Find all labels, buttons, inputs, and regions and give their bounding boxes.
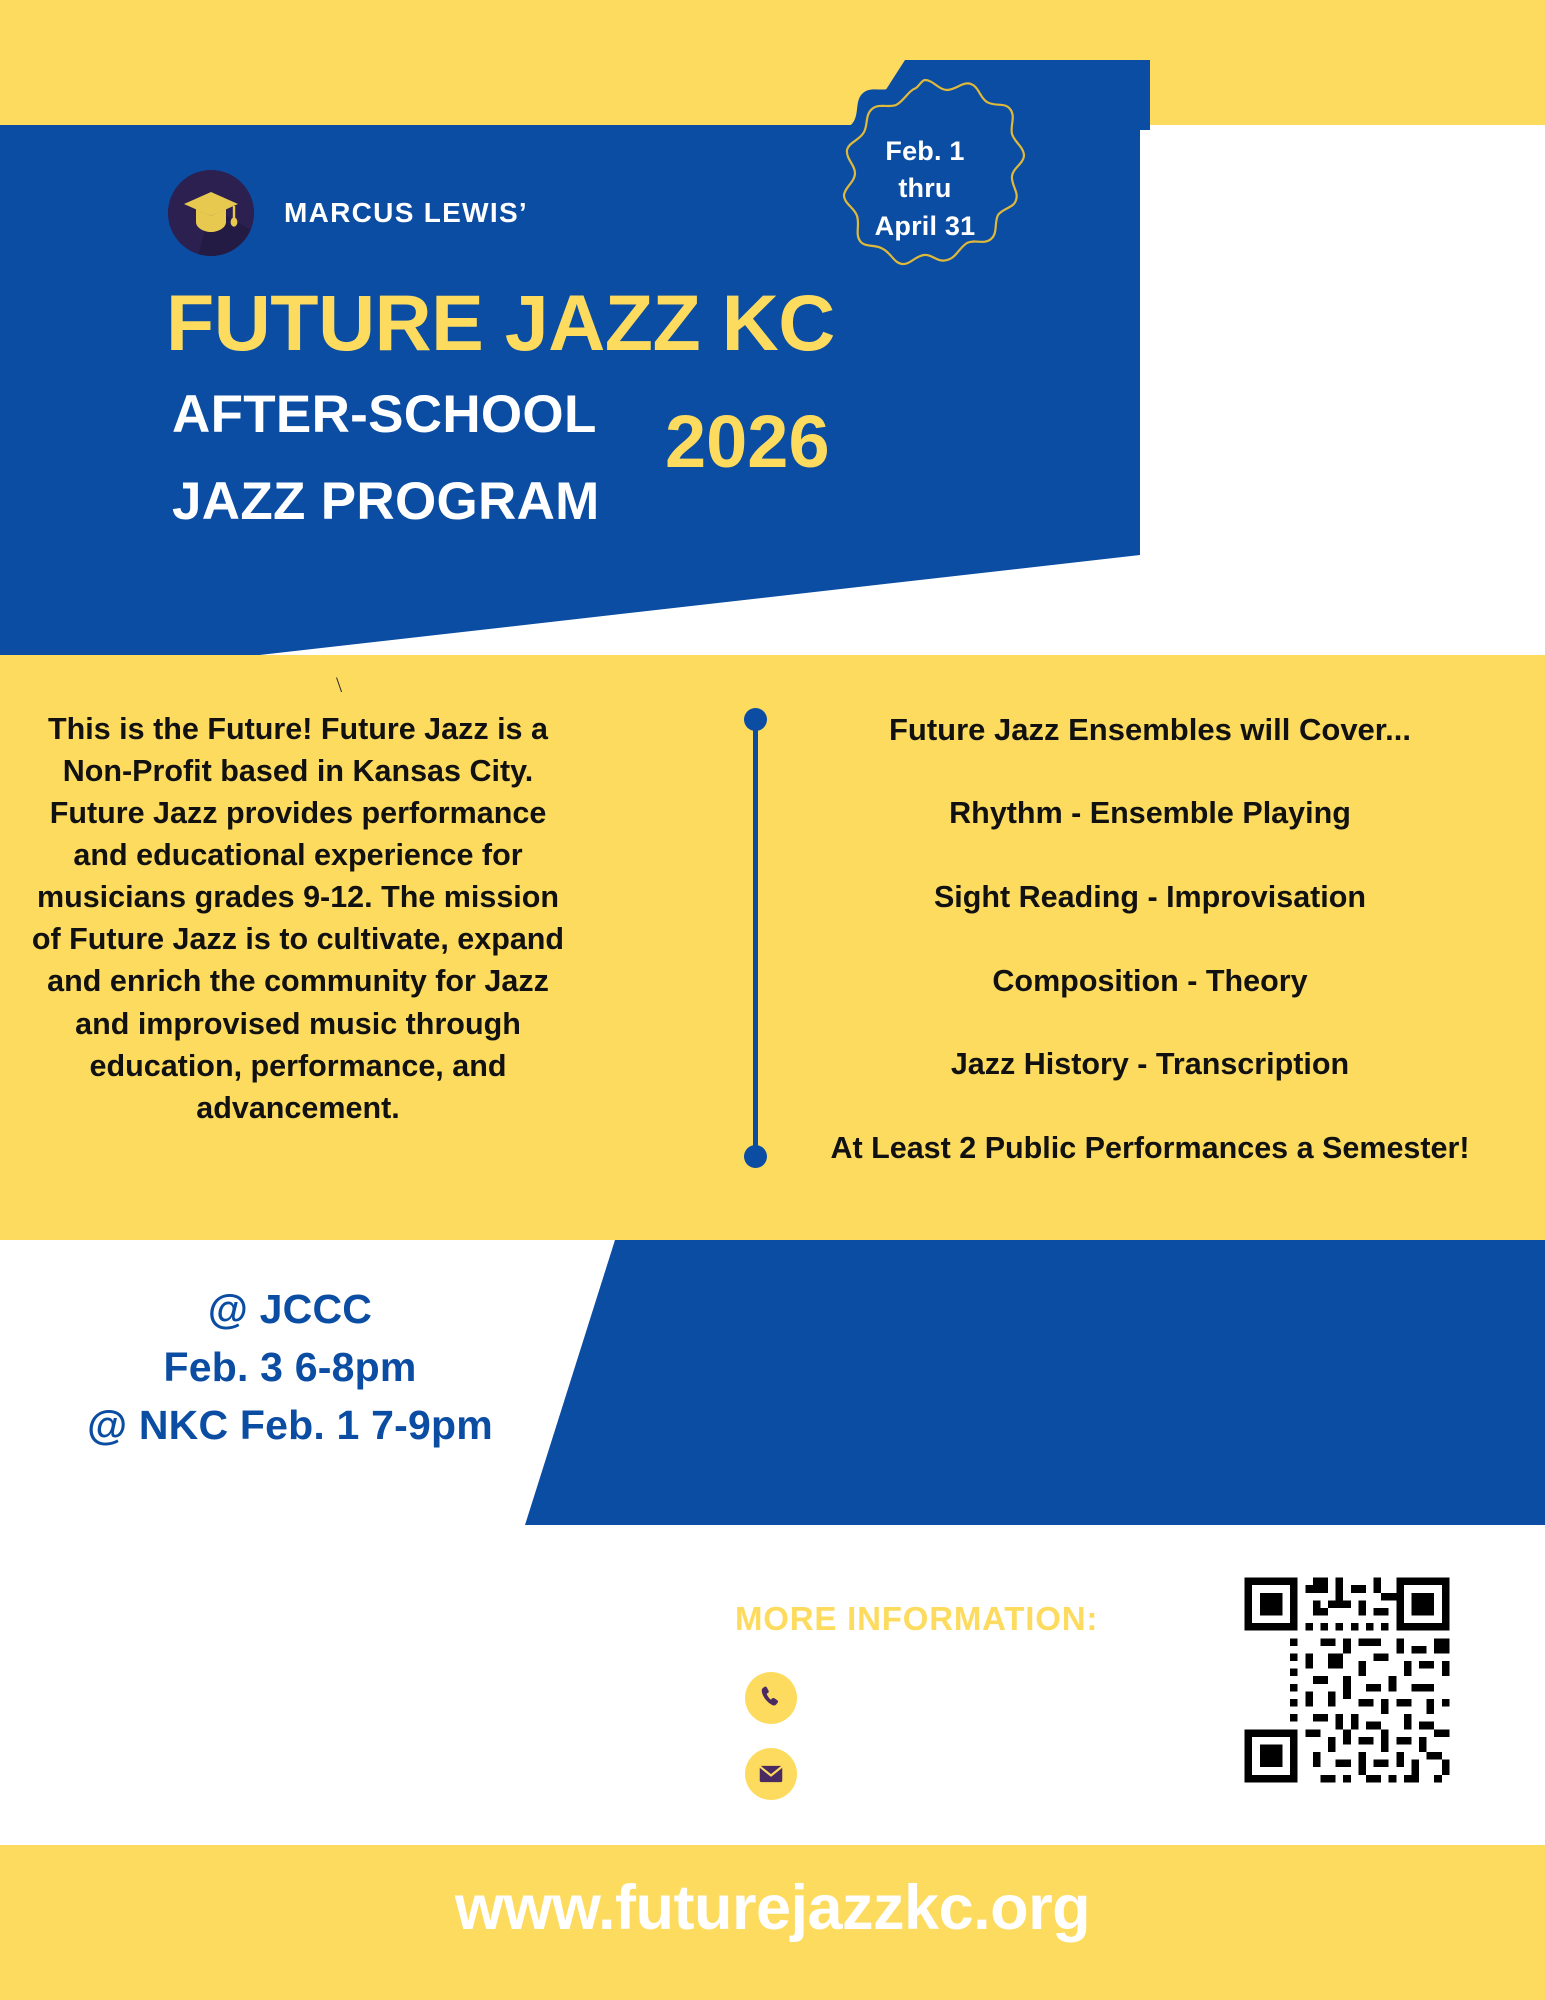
program-year: 2026 — [665, 405, 830, 479]
venue-info: @ JCCC Feb. 3 6-8pm @ NKC Feb. 1 7-9pm — [20, 1280, 560, 1455]
ensembles-item-1: Sight Reading - Improvisation — [790, 878, 1510, 918]
phone-number: 816-719-1157 — [837, 1684, 994, 1713]
brand-lockup: MARCUS LEWIS’ — [168, 170, 528, 256]
ensembles-item-2: Composition - Theory — [790, 962, 1510, 1002]
ensembles-item-3: Jazz History - Transcription — [790, 1045, 1510, 1085]
divider-dot-bottom — [744, 1145, 767, 1168]
badge-line-3: April 31 — [875, 208, 976, 245]
divider-line — [753, 719, 758, 1157]
contact-email-row[interactable]: marcus@futurejazzkc.org — [745, 1748, 1128, 1800]
venue-line-1: @ JCCC — [20, 1280, 560, 1338]
contact-phone-row[interactable]: 816-719-1157 — [745, 1672, 994, 1724]
ensembles-heading: Future Jazz Ensembles will Cover... — [790, 710, 1510, 750]
date-badge: Feb. 1 thru April 31 — [810, 58, 1040, 320]
page-title: FUTURE JAZZ KC — [166, 283, 835, 362]
stray-mark: \ — [336, 672, 342, 698]
subtitle-line-1: AFTER-SCHOOL — [172, 388, 597, 441]
qr-code-icon[interactable] — [1237, 1570, 1457, 1790]
venue-line-3: @ NKC Feb. 1 7-9pm — [20, 1396, 560, 1454]
email-address: marcus@futurejazzkc.org — [837, 1760, 1128, 1789]
envelope-icon — [745, 1748, 797, 1800]
ensembles-item-4: At Least 2 Public Performances a Semeste… — [790, 1129, 1510, 1169]
venue-line-2: Feb. 3 6-8pm — [20, 1338, 560, 1396]
more-information-heading: MORE INFORMATION: — [735, 1600, 1098, 1638]
phone-icon — [745, 1672, 797, 1724]
ensembles-item-0: Rhythm - Ensemble Playing — [790, 794, 1510, 834]
website-url[interactable]: www.futurejazzkc.org — [0, 1872, 1545, 1944]
top-yellow-band — [0, 0, 1545, 125]
ensembles-list: Future Jazz Ensembles will Cover... Rhyt… — [790, 710, 1510, 1169]
badge-line-2: thru — [898, 170, 951, 207]
subtitle-line-2: JAZZ PROGRAM — [172, 475, 600, 528]
brand-name: MARCUS LEWIS’ — [284, 197, 528, 229]
about-paragraph: This is the Future! Future Jazz is a Non… — [22, 708, 574, 1129]
badge-line-1: Feb. 1 — [885, 133, 964, 170]
column-divider — [744, 708, 766, 1168]
graduation-cap-icon — [168, 170, 254, 256]
date-badge-text: Feb. 1 thru April 31 — [810, 58, 1040, 320]
